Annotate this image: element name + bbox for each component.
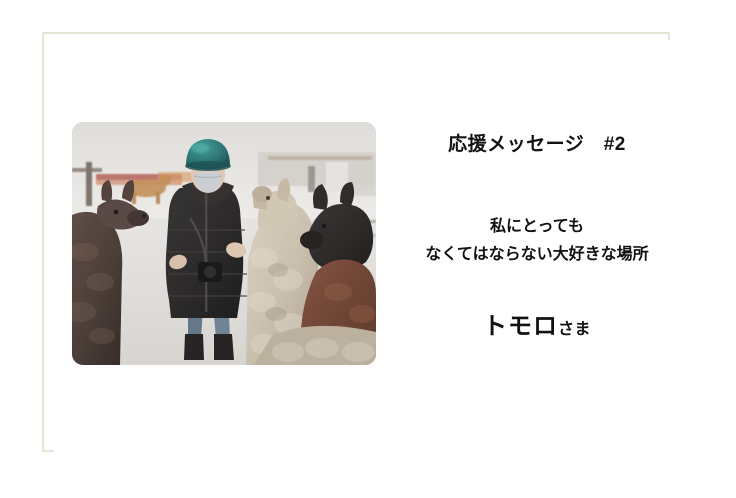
message-text-column: 応援メッセージ #2 私にとっても なくてはならない大好きな場所 トモロさま <box>392 122 682 342</box>
message-body-line-1: 私にとっても <box>392 213 682 241</box>
message-body: 私にとっても なくてはならない大好きな場所 <box>392 157 682 269</box>
message-signature: トモロさま <box>392 269 682 342</box>
message-card: 応援メッセージ #2 私にとっても なくてはならない大好きな場所 トモロさま <box>0 0 736 498</box>
alpaca-farm-photo <box>72 122 376 365</box>
message-title: 応援メッセージ #2 <box>392 122 682 157</box>
signature-name: トモロ <box>483 313 558 340</box>
signature-honorific: さま <box>558 321 591 338</box>
message-body-line-2: なくてはならない大好きな場所 <box>392 241 682 269</box>
